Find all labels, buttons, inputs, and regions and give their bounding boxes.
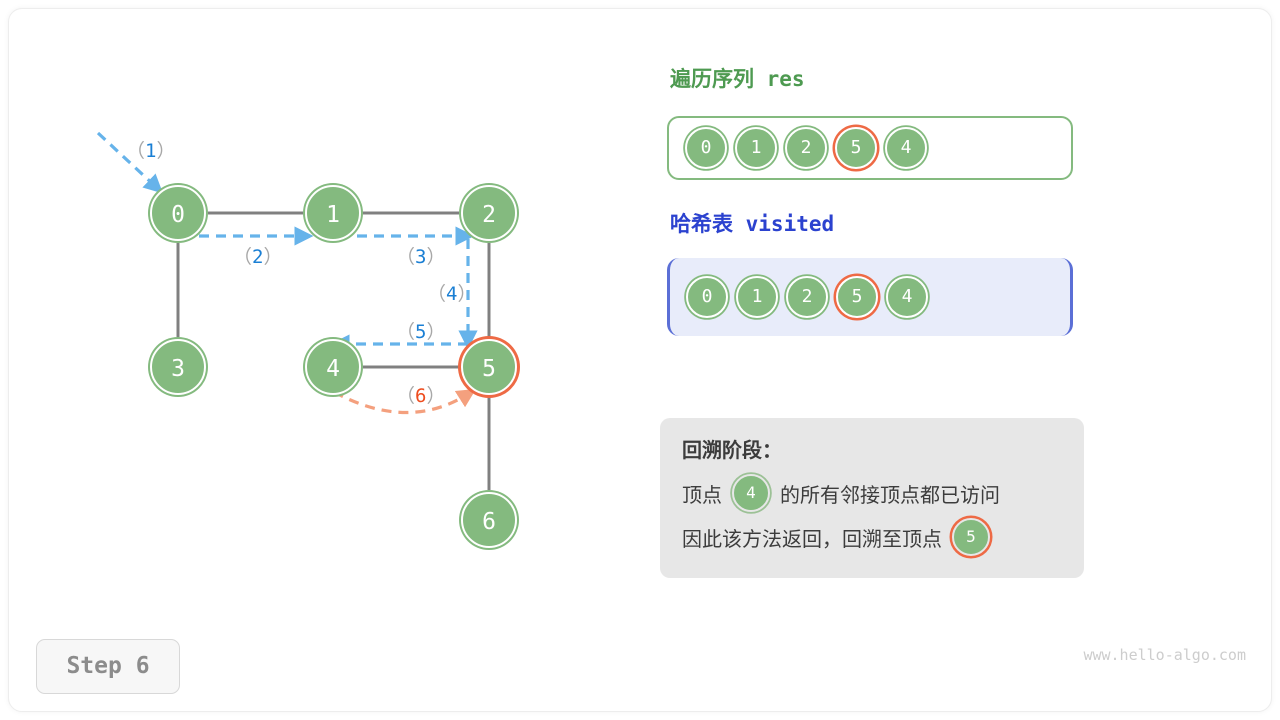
res-chip[interactable]: 2 bbox=[785, 127, 827, 169]
res-chip[interactable]: 1 bbox=[735, 127, 777, 169]
graph-node-3[interactable]: 3 bbox=[150, 339, 206, 395]
graph-node-5[interactable]: 5 bbox=[461, 339, 517, 395]
graph-node-4[interactable]: 4 bbox=[305, 339, 361, 395]
label-number: 5 bbox=[415, 321, 426, 343]
label-close-paren: ） bbox=[156, 140, 175, 162]
res-box: 0 1 2 5 4 bbox=[667, 116, 1073, 180]
res-title: 遍历序列 res bbox=[670, 63, 805, 93]
info-chip-vertex-5: 5 bbox=[952, 518, 990, 556]
step-label-6: （6） bbox=[396, 381, 445, 408]
res-chip-row: 0 1 2 5 4 bbox=[669, 118, 1071, 178]
label-number: 1 bbox=[145, 140, 156, 162]
res-chip[interactable]: 4 bbox=[885, 127, 927, 169]
graph-panel: 0 1 2 3 4 5 6 （1） （2） （3） （4） （5） （6） bbox=[0, 0, 640, 620]
label-open-paren: （ bbox=[427, 283, 446, 305]
visited-chip[interactable]: 1 bbox=[736, 276, 778, 318]
label-close-paren: ） bbox=[426, 385, 445, 407]
visited-chip[interactable]: 0 bbox=[686, 276, 728, 318]
label-open-paren: （ bbox=[396, 246, 415, 268]
label-number: 2 bbox=[252, 246, 263, 268]
graph-edges-svg bbox=[0, 0, 640, 620]
step-label-4: （4） bbox=[427, 279, 476, 306]
visited-chip-row: 0 1 2 5 4 bbox=[670, 258, 1070, 336]
diagram-canvas: 0 1 2 3 4 5 6 （1） （2） （3） （4） （5） （6） 遍历… bbox=[0, 0, 1280, 720]
label-number: 6 bbox=[415, 385, 426, 407]
label-close-paren: ） bbox=[263, 246, 282, 268]
info-chip-vertex-4: 4 bbox=[732, 474, 770, 512]
info-line-2-prefix: 因此该方法返回，回溯至顶点 bbox=[682, 523, 942, 552]
info-line-2: 因此该方法返回，回溯至顶点 5 bbox=[682, 515, 1062, 559]
label-open-paren: （ bbox=[233, 246, 252, 268]
info-line-1-prefix: 顶点 bbox=[682, 479, 722, 508]
visited-chip-highlighted[interactable]: 5 bbox=[836, 276, 878, 318]
info-line-1-suffix: 的所有邻接顶点都已访问 bbox=[780, 479, 1000, 508]
step-label-2: （2） bbox=[233, 242, 282, 269]
step-label-1: （1） bbox=[126, 136, 175, 163]
info-panel: 回溯阶段： 顶点 4 的所有邻接顶点都已访问 因此该方法返回，回溯至顶点 5 bbox=[660, 418, 1084, 578]
graph-node-0[interactable]: 0 bbox=[150, 185, 206, 241]
label-number: 3 bbox=[415, 246, 426, 268]
res-chip[interactable]: 0 bbox=[685, 127, 727, 169]
res-chip-highlighted[interactable]: 5 bbox=[835, 127, 877, 169]
visited-box: 0 1 2 5 4 bbox=[667, 258, 1073, 336]
graph-node-2[interactable]: 2 bbox=[461, 185, 517, 241]
step-badge: Step 6 bbox=[36, 639, 180, 694]
label-open-paren: （ bbox=[396, 321, 415, 343]
graph-node-1[interactable]: 1 bbox=[305, 185, 361, 241]
info-heading: 回溯阶段： bbox=[682, 434, 1062, 463]
label-close-paren: ） bbox=[457, 283, 476, 305]
traversal-arrows bbox=[98, 133, 468, 344]
step-label-5: （5） bbox=[396, 317, 445, 344]
step-label-3: （3） bbox=[396, 242, 445, 269]
visited-chip[interactable]: 2 bbox=[786, 276, 828, 318]
graph-node-6[interactable]: 6 bbox=[461, 492, 517, 548]
label-open-paren: （ bbox=[396, 385, 415, 407]
visited-title: 哈希表 visited bbox=[670, 208, 834, 238]
watermark: www.hello-algo.com bbox=[1083, 646, 1246, 664]
visited-chip[interactable]: 4 bbox=[886, 276, 928, 318]
label-close-paren: ） bbox=[426, 321, 445, 343]
label-open-paren: （ bbox=[126, 140, 145, 162]
label-close-paren: ） bbox=[426, 246, 445, 268]
label-number: 4 bbox=[446, 283, 457, 305]
info-line-1: 顶点 4 的所有邻接顶点都已访问 bbox=[682, 471, 1062, 515]
